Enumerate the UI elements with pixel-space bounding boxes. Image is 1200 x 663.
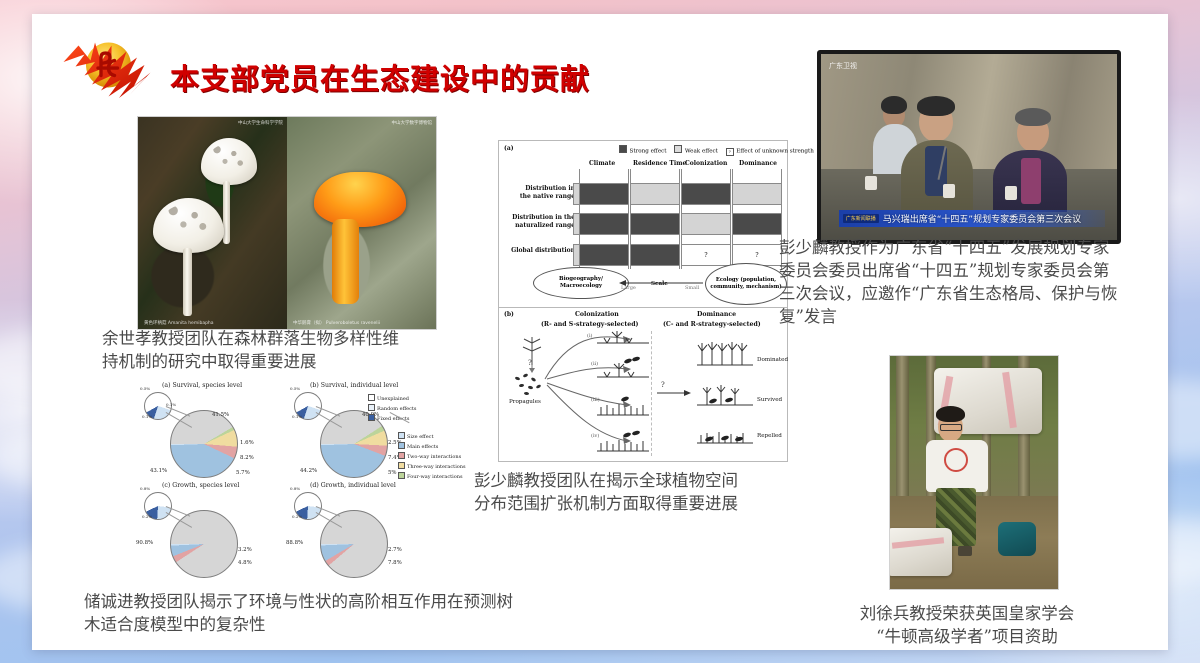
field-backpack: [998, 522, 1036, 556]
legend-label: Unexplained: [377, 396, 409, 402]
center-column-caption: 彭少麟教授团队在揭示全球植物空间分布范围扩张机制方面取得重要进展: [474, 469, 754, 515]
panel-a-legend: Strong effect Weak effect ?Effect of unk…: [619, 145, 814, 156]
left-column-caption: 余世孝教授团队在森林群落生物多样性维持机制的研究中取得重要进展: [102, 327, 402, 373]
left-column-bottom-caption: 储诚进教授团队揭示了环境与性状的高阶相互作用在预测树木适合度模型中的复杂性: [84, 590, 514, 636]
pie-panel-a: (a) Survival, species level 41.5% 43.1% …: [132, 382, 297, 482]
pie-inset-label: 0.1%: [292, 414, 302, 419]
mushroom-cap: [153, 198, 225, 253]
pie-legend-sub: Size effect Main effects Two-way interac…: [398, 432, 466, 480]
legend-swatch-strong: [619, 145, 627, 153]
svg-text:(i): (i): [587, 332, 593, 339]
matrix-col-colonization: Colonization: [685, 160, 727, 167]
matrix-cell: [732, 213, 782, 235]
pie-slice-label: 44.2%: [300, 468, 317, 474]
pie-slice-label: 4.8%: [238, 560, 252, 566]
matrix-row-naturalized-range: Distribution in the naturalized range: [507, 214, 575, 230]
panel-b-label: (b): [504, 311, 514, 318]
matrix-cell: [630, 244, 680, 266]
ellipse-ecology: Ecology (population, community, mechanis…: [705, 263, 787, 305]
researcher-boot: [958, 546, 972, 556]
legend-label: Four-way interactions: [407, 474, 463, 480]
matrix-col-climate: Climate: [589, 160, 615, 167]
tree-trunk: [896, 356, 909, 510]
pie-inset-label: 0.8%: [290, 486, 300, 491]
tv-chyron: 广东新闻联播 马兴瑞出席省“十四五”规划专家委员会第三次会议: [839, 210, 1105, 227]
pie-inset-label: 0.8%: [140, 486, 150, 491]
propagules-label: Propagules: [509, 399, 541, 405]
pie-slice-label: 3.2%: [238, 547, 252, 553]
tv-speaker-hair: [917, 96, 955, 116]
field-caption-line-1: 刘徐兵教授荣获英国皇家学会: [817, 602, 1117, 625]
pie-panel-title: (d) Growth, individual level: [310, 482, 396, 489]
pie-legend-main: Unexplained Random effects Fixed effects: [368, 394, 416, 422]
photo-watermark: 中山大学数字博物馆: [392, 120, 433, 126]
matrix-cell: [681, 213, 731, 235]
matrix-cell: [579, 244, 629, 266]
mushroom-stem: [183, 248, 192, 316]
legend-swatch-fixed: [368, 414, 375, 421]
panel-b-left-title: Colonization: [575, 311, 619, 318]
matrix-col-dominance: Dominance: [739, 160, 777, 167]
matrix-cell: [630, 213, 680, 235]
slide-canvas: 本支部党员在生态建设中的贡献 中山大学生命科学学院 黄色环柄菇 Amanita …: [32, 14, 1168, 650]
matrix-row-global-distribution: Global distribution: [509, 247, 575, 255]
global-plant-distribution-figure: (a) Strong effect Weak effect ?Effect of…: [498, 140, 788, 462]
panel-divider: [499, 307, 787, 308]
left-vegetation-states: [595, 329, 651, 459]
slide-stage: 本支部党员在生态建设中的贡献 中山大学生命科学学院 黄色环柄菇 Amanita …: [0, 0, 1200, 663]
tv-chyron-tag: 广东新闻联播: [843, 214, 879, 223]
tv-news-photo: 广东卫视 广东新闻联播 马兴瑞出席省“十四五”规划专家委员会第三次会议: [817, 50, 1121, 244]
pie-panel-title: (c) Growth, species level: [162, 482, 239, 489]
ground-sack: [889, 528, 952, 576]
pie-inset-label: 0.2%: [292, 514, 302, 519]
pie-inset-label: 0.2%: [142, 514, 152, 519]
photo-species-label: 黄色环柄菇 Amanita hemibapha: [144, 320, 214, 326]
legend-swatch-three-way: [398, 462, 405, 469]
tv-person2-inner-shirt: [1021, 158, 1041, 204]
pie-slice-label: 43.1%: [150, 468, 167, 474]
researcher-tshirt: [926, 440, 988, 492]
ccp-party-emblem-icon: [62, 32, 152, 104]
mushroom-photo-right-half: 中山大学数字博物馆 中华鹅膏（拟） Pulveroboletus ravenel…: [287, 117, 436, 329]
pie-panel-d: (d) Growth, individual level 88.8% 7.8% …: [282, 482, 447, 580]
ellipse-biogeography: Biogeography/ Macroecology: [533, 267, 629, 299]
scale-axis-title: Scale: [651, 281, 668, 287]
legend-label: Weak effect: [685, 149, 718, 155]
field-caption-line-2: “牛顿高级学者”项目资助: [817, 625, 1117, 648]
mushroom-cap: [201, 138, 258, 185]
legend-swatch-random: [368, 404, 375, 411]
svg-text:?: ?: [528, 359, 532, 367]
bolete-stem: [332, 219, 359, 304]
bolete-cap: [314, 172, 406, 227]
pie-slice-label: 41.5%: [212, 412, 229, 418]
legend-swatch-four-way: [398, 472, 405, 479]
matrix-row-native-range: Distribution in the native range: [513, 185, 575, 201]
tv-person2-hair: [1015, 108, 1051, 126]
pie-slice-label: 7.8%: [388, 560, 402, 566]
legend-label: Size effect: [407, 434, 434, 440]
legend-swatch-weak: [674, 145, 682, 153]
mushroom-photo: 中山大学生命科学学院 黄色环柄菇 Amanita hemibapha 中山大学数…: [137, 116, 437, 330]
panel-a-label: (a): [504, 145, 514, 152]
matrix-cell: [630, 183, 680, 205]
legend-label: Three-way interactions: [407, 464, 466, 470]
legend-swatch-size: [398, 432, 405, 439]
tv-channel-logo: 广东卫视: [829, 61, 857, 71]
right-column-tv-caption: 彭少麟教授作为广东省“十四五”发展规划专家委员会委员出席省“十四五”规划专家委员…: [779, 236, 1119, 328]
legend-label: Two-way interactions: [407, 454, 461, 460]
panel-b-left-subtitle: (R- and S-strategy-selected): [541, 321, 638, 328]
pie-panel-title: (a) Survival, species level: [162, 382, 242, 389]
field-researcher-photo: [889, 355, 1059, 590]
panel-b-right-subtitle: (C- and R-strategy-selected): [663, 321, 761, 328]
pie-slice-label: 88.8%: [286, 540, 303, 546]
tv-chyron-text: 马兴瑞出席省“十四五”规划专家委员会第三次会议: [883, 212, 1081, 225]
pie-slice-label: 1.6%: [240, 440, 254, 446]
pie-slice-label: 5%: [388, 470, 397, 476]
page-title: 本支部党员在生态建设中的贡献: [170, 56, 590, 98]
tv-cup: [865, 176, 877, 190]
pie-inset-label: 0.5%: [140, 386, 150, 391]
researcher-hair: [936, 406, 965, 422]
pie-panel-title: (b) Survival, individual level: [310, 382, 398, 389]
tv-cup: [1005, 186, 1017, 200]
outcome-survived: Survived: [757, 397, 782, 403]
pie-slice-label: 2.7%: [388, 547, 402, 553]
legend-label: Effect of unknown strength: [736, 149, 814, 155]
legend-swatch-main: [398, 442, 405, 449]
legend-swatch-unknown: ?: [726, 148, 734, 156]
scale-axis-small: Small: [685, 285, 699, 291]
matrix-cell: [732, 183, 782, 205]
right-vegetation-states: [695, 337, 757, 457]
matrix-cell: [579, 183, 629, 205]
legend-label: Random effects: [377, 406, 416, 412]
photo-species-label: 中华鹅膏（拟） Pulveroboletus ravenelii: [293, 320, 380, 326]
pie-slice-label: 5.7%: [236, 470, 250, 476]
right-column-field-caption: 刘徐兵教授荣获英国皇家学会 “牛顿高级学者”项目资助: [817, 602, 1117, 648]
pie-inset-label: 0.1%: [142, 414, 152, 419]
matrix-cell-unknown: ?: [681, 244, 731, 266]
legend-swatch-unexplained: [368, 394, 375, 401]
matrix-cell: [579, 213, 629, 235]
variance-partition-pie-figure: (a) Survival, species level 41.5% 43.1% …: [132, 382, 482, 580]
tv-cup: [943, 184, 955, 198]
scale-axis-large: Large: [621, 285, 636, 291]
pie-inset-label: 0.5%: [290, 386, 300, 391]
mushroom-photo-left-half: 中山大学生命科学学院 黄色环柄菇 Amanita hemibapha: [138, 117, 287, 329]
tv-person-hair: [881, 96, 907, 114]
outcome-repelled: Repelled: [757, 433, 782, 439]
matrix-cell: [681, 183, 731, 205]
svg-text:?: ?: [661, 381, 665, 389]
panel-b-right-title: Dominance: [697, 311, 736, 318]
outcome-dominated: Dominated: [757, 357, 788, 363]
mushroom-stem: [223, 181, 230, 245]
pie-panel-c: (c) Growth, species level 90.8% 4.8% 3.2…: [132, 482, 297, 580]
researcher-glasses-icon: [940, 424, 962, 431]
pie-slice-label: 90.8%: [136, 540, 153, 546]
legend-swatch-two-way: [398, 452, 405, 459]
legend-label: Strong effect: [630, 149, 667, 155]
photo-watermark: 中山大学生命科学学院: [238, 120, 283, 126]
dominance-question-arrow: ?: [655, 379, 695, 399]
legend-label: Main effects: [407, 444, 438, 450]
pie-slice-label: 8.2%: [240, 455, 254, 461]
tv-scene-wall: [821, 54, 1117, 169]
matrix-col-residence-time: Residence Time: [633, 160, 686, 167]
